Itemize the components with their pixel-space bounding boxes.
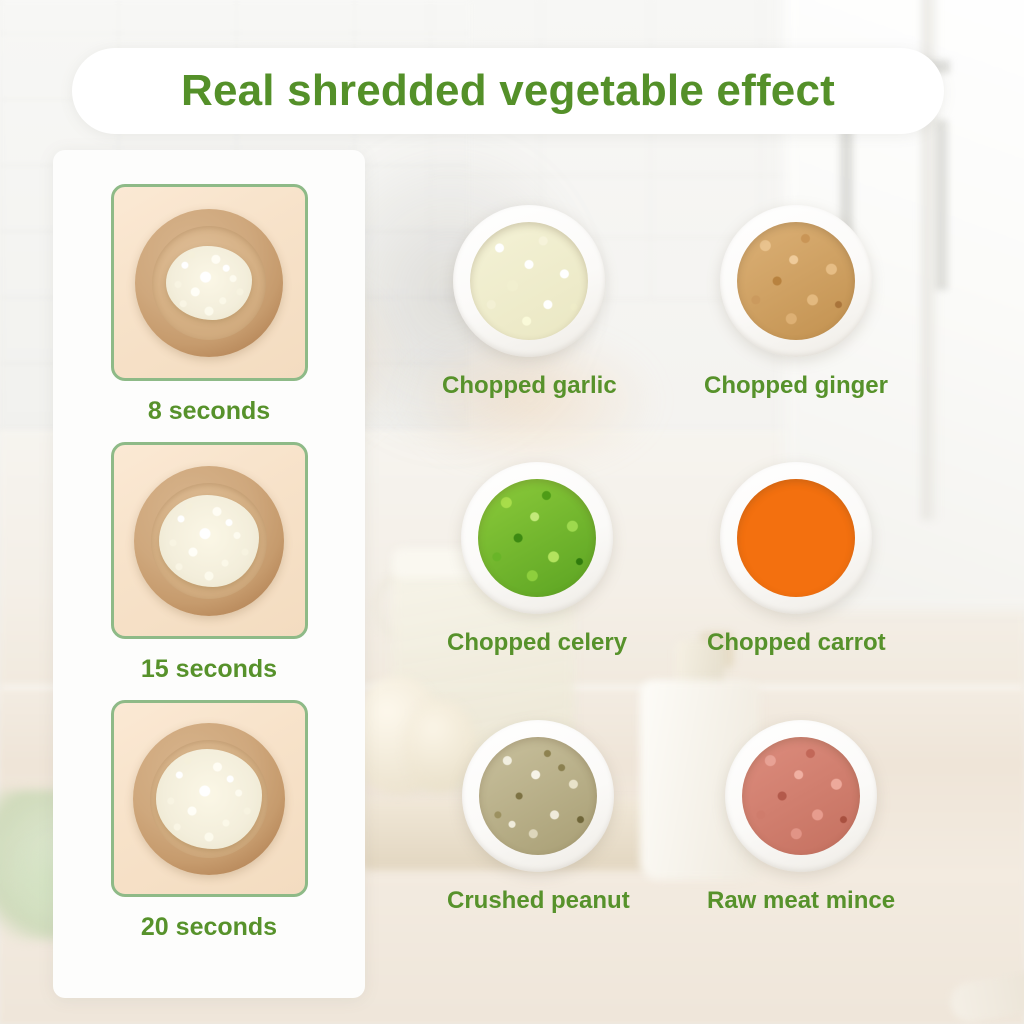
time-stage-label: 15 seconds bbox=[141, 655, 277, 684]
food-result-label: Chopped garlic bbox=[442, 372, 617, 400]
food-result-label: Chopped carrot bbox=[707, 629, 886, 657]
bowl-raw-meat-mince bbox=[725, 720, 877, 872]
page-title: Real shredded vegetable effect bbox=[181, 66, 835, 116]
bowl-chopped-ginger bbox=[720, 205, 872, 357]
food-result-item: Chopped carrot bbox=[707, 462, 886, 657]
bowl-contents bbox=[737, 222, 855, 340]
bowl-chopped-carrot bbox=[720, 462, 872, 614]
wooden-plate bbox=[133, 723, 285, 875]
bowl-contents bbox=[470, 222, 588, 340]
garlic-on-wooden-plate-8s bbox=[111, 184, 308, 381]
bowl-contents bbox=[737, 479, 855, 597]
wooden-plate bbox=[135, 209, 283, 357]
processing-time-panel: 8 seconds15 seconds20 seconds bbox=[53, 150, 365, 998]
food-result-label: Chopped celery bbox=[447, 629, 627, 657]
food-result-label: Chopped ginger bbox=[704, 372, 888, 400]
time-stage-item: 20 seconds bbox=[111, 700, 308, 942]
bowl-crushed-peanut bbox=[462, 720, 614, 872]
bowl-contents bbox=[479, 737, 597, 855]
garlic-on-wooden-plate-15s bbox=[111, 442, 308, 639]
food-result-item: Crushed peanut bbox=[447, 720, 630, 915]
bowl-chopped-garlic bbox=[453, 205, 605, 357]
bowl-contents bbox=[478, 479, 596, 597]
food-result-item: Chopped ginger bbox=[704, 205, 888, 400]
faucet-stem bbox=[935, 120, 948, 290]
minced-garlic-pile bbox=[156, 749, 262, 849]
bowl-contents bbox=[742, 737, 860, 855]
food-result-item: Chopped celery bbox=[447, 462, 627, 657]
food-results-grid: Chopped garlicChopped gingerChopped cele… bbox=[420, 205, 920, 965]
food-result-item: Chopped garlic bbox=[442, 205, 617, 400]
time-stage-item: 8 seconds bbox=[111, 184, 308, 426]
time-stage-label: 20 seconds bbox=[141, 913, 277, 942]
time-stage-label: 8 seconds bbox=[148, 397, 270, 426]
wooden-plate bbox=[134, 466, 284, 616]
food-result-label: Crushed peanut bbox=[447, 887, 630, 915]
food-result-label: Raw meat mince bbox=[707, 887, 895, 915]
garlic-on-wooden-plate-20s bbox=[111, 700, 308, 897]
title-banner: Real shredded vegetable effect bbox=[72, 48, 944, 134]
bowl-chopped-celery bbox=[461, 462, 613, 614]
minced-garlic-pile bbox=[159, 495, 259, 587]
minced-garlic-pile bbox=[166, 246, 252, 320]
time-stage-item: 15 seconds bbox=[111, 442, 308, 684]
food-result-item: Raw meat mince bbox=[707, 720, 895, 915]
